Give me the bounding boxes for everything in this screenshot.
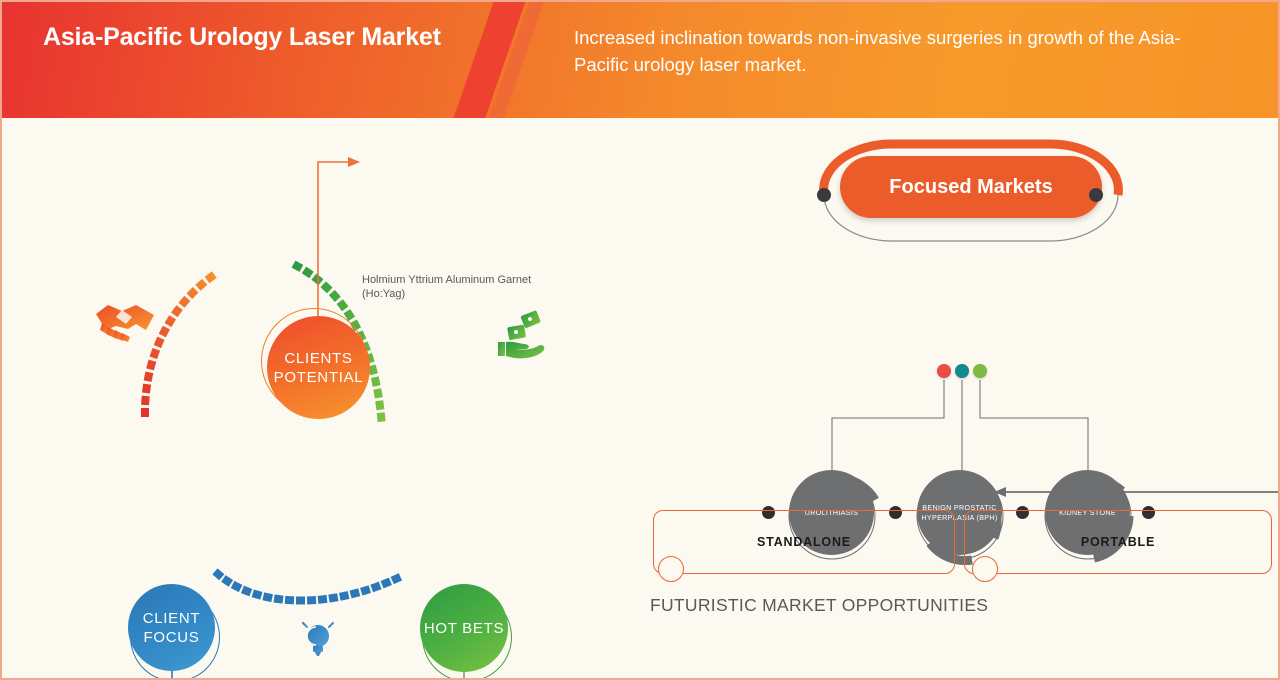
clients-potential-label: CLIENTS POTENTIAL	[267, 349, 370, 387]
green-dot	[973, 364, 987, 378]
lightbulb-icon	[296, 613, 341, 668]
node-hot-bets[interactable]: HOT BETS	[420, 584, 508, 672]
focused-markets-left-dot	[817, 188, 831, 202]
left-panel: CLIENTS POTENTIAL CLIENT FOCUS HOT BETS …	[2, 118, 642, 680]
teal-dot	[955, 364, 969, 378]
opportunity-label-portable: PORTABLE	[1081, 535, 1155, 549]
hot-bets-label: HOT BETS	[424, 619, 504, 638]
opportunity-box-standalone[interactable]: STANDALONE	[653, 510, 955, 574]
red-dot	[937, 364, 951, 378]
client-focus-label: CLIENT FOCUS	[128, 609, 215, 647]
opportunity-knob-standalone	[658, 556, 684, 582]
blue-dotted-arc	[218, 574, 402, 601]
clients-potential-callout-text: Holmium Yttrium Aluminum Garnet (Ho:Yag)	[362, 273, 552, 301]
money-in-hand-icon	[494, 310, 548, 367]
handshake-icon	[92, 296, 158, 351]
opportunities-title: FUTURISTIC MARKET OPPORTUNITIES	[650, 595, 988, 616]
opportunity-box-portable[interactable]: PORTABLE	[964, 510, 1272, 574]
clients-potential-callout-arrowhead	[348, 157, 360, 167]
focused-markets-right-dot	[1089, 188, 1103, 202]
opportunity-label-standalone: STANDALONE	[757, 535, 851, 549]
header-subtitle: Increased inclination towards non-invasi…	[574, 24, 1214, 78]
header-banner: Asia-Pacific Urology Laser Market Increa…	[2, 2, 1280, 118]
focused-markets-banner[interactable]: Focused Markets	[840, 156, 1102, 218]
page-title: Asia-Pacific Urology Laser Market	[43, 22, 463, 52]
focused-markets-label: Focused Markets	[889, 176, 1052, 199]
clients-potential-callout-line	[318, 162, 348, 316]
market-tree-lines	[832, 380, 1088, 470]
opportunities-arrow	[994, 487, 1280, 497]
opportunity-knob-portable	[972, 556, 998, 582]
node-clients-potential[interactable]: CLIENTS POTENTIAL	[267, 316, 370, 419]
node-client-focus[interactable]: CLIENT FOCUS	[128, 584, 215, 671]
right-panel: Focused Markets UROLITHIASIS BENIGN PROS…	[642, 118, 1280, 680]
infographic-page: Asia-Pacific Urology Laser Market Increa…	[0, 0, 1280, 680]
